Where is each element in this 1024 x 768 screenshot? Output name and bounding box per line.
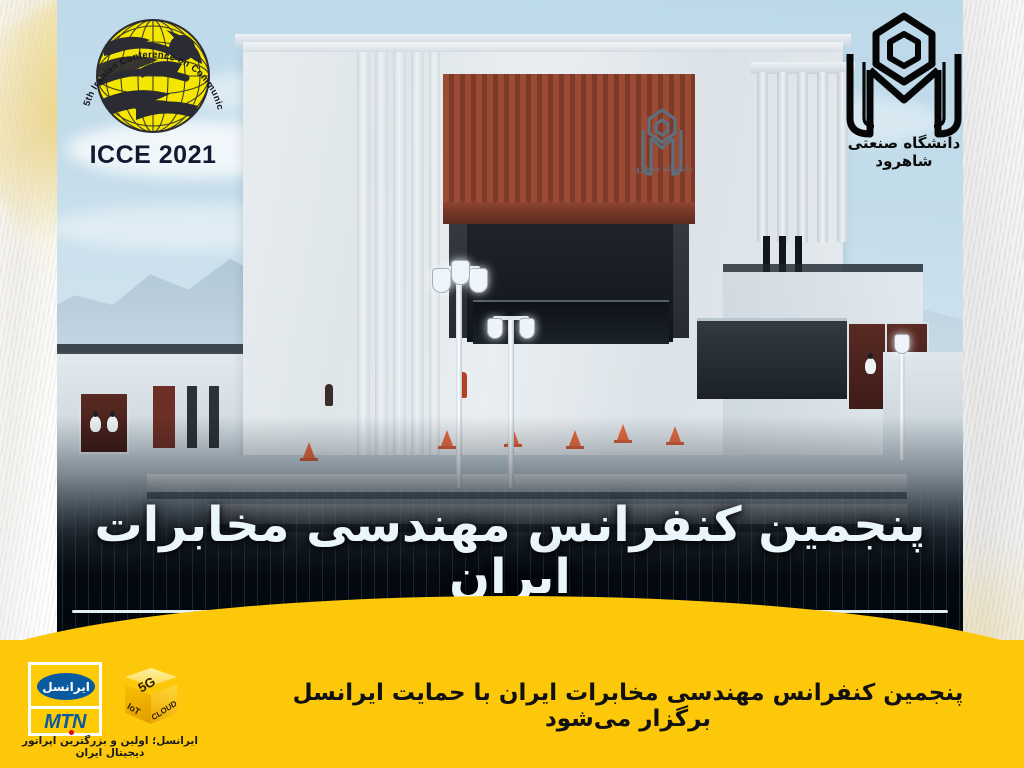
- icce-globe-logo: 5th Iranian Conference on Communications…: [78, 8, 228, 178]
- 5g-iot-cloud-cube-icon: 5G IoT CLOUD: [118, 668, 184, 734]
- glass-annex-panel: [697, 318, 847, 399]
- irancell-slogan-fa: ایرانسل؛ اولین و بزرگترین اپراتور دیجیتا…: [4, 735, 216, 759]
- icce-acronym-year: ICCE 2021: [78, 141, 228, 170]
- sponsor-message-fa: پنجمین کنفرانس مهندسی مخابرات ایران با ح…: [258, 680, 998, 732]
- logo-divider: [31, 706, 99, 709]
- university-name-fa: دانشگاه صنعتی شاهرود: [820, 134, 988, 170]
- shahrood-university-logo: دانشگاه صنعتی شاهرود: [820, 6, 988, 176]
- pilaster: [393, 52, 406, 472]
- shahrood-university-facade-emblem: دانشگاه شاهرود: [631, 104, 693, 182]
- mtn-brand-en: MTN: [31, 711, 99, 734]
- irancell-mtn-logo: ایرانسل MTN: [28, 662, 102, 736]
- sponsor-footer: ایرانسل MTN 5G IoT CLOUD پنجمین کنفرانس …: [0, 640, 1024, 768]
- conference-poster: دانشگاه شاهرود: [0, 0, 1024, 768]
- conference-title-fa: پنجمین کنفرانس مهندسی مخابرات ایران: [57, 500, 963, 604]
- pilaster: [411, 52, 424, 472]
- person: [325, 384, 333, 406]
- irancell-brand-fa: ایرانسل: [37, 673, 95, 700]
- pilaster: [375, 52, 388, 472]
- pilaster: [357, 52, 370, 472]
- side-building-left-cap: [57, 344, 247, 354]
- canopy-beam: [443, 202, 695, 224]
